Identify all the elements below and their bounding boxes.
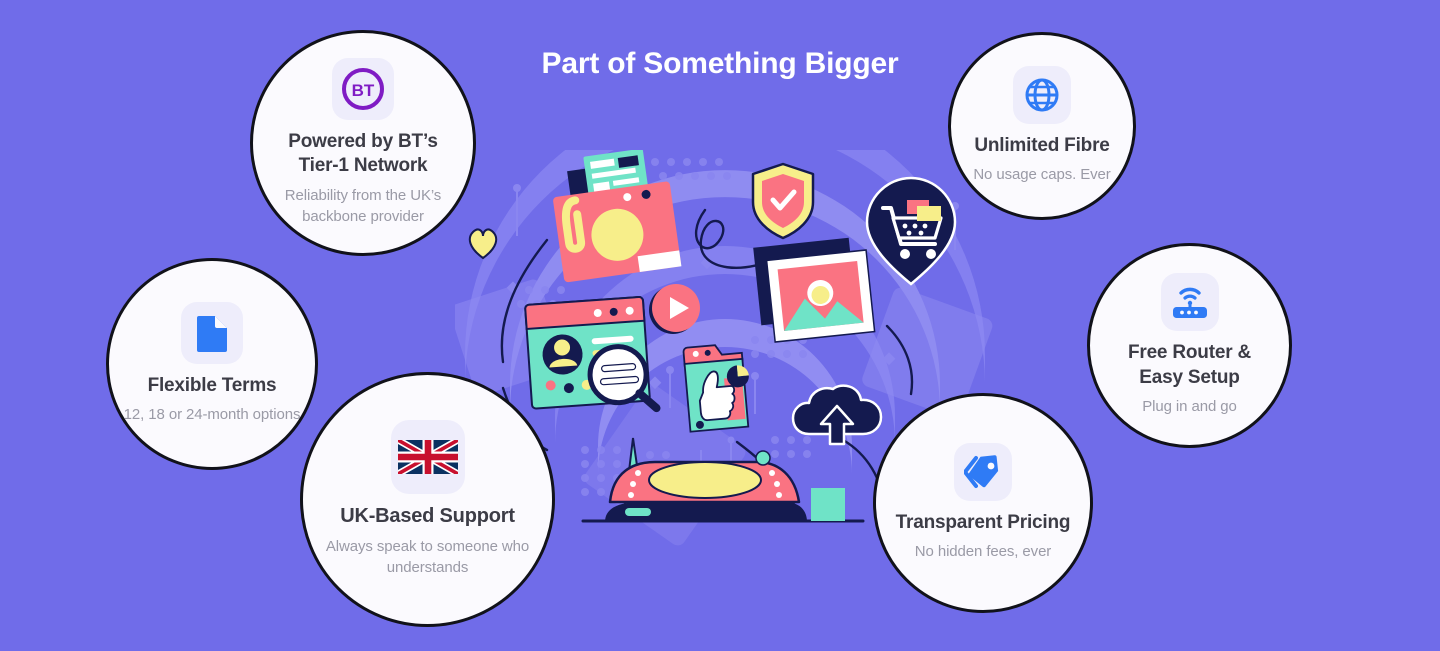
feature-subtitle: Plug in and go [1142, 396, 1237, 418]
feature-subtitle: No hidden fees, ever [915, 541, 1051, 563]
svg-text:BT: BT [352, 81, 375, 100]
feature-title: Free Router & Easy Setup [1104, 341, 1275, 390]
feature-subtitle: 12, 18 or 24-month options [124, 404, 301, 426]
feature-bubble-terms[interactable]: Flexible Terms 12, 18 or 24-month option… [106, 258, 318, 470]
feature-subtitle: No usage caps. Ever [973, 164, 1110, 186]
document-icon [181, 302, 243, 364]
feature-title: Unlimited Fibre [974, 134, 1109, 158]
feature-title: Flexible Terms [148, 374, 277, 398]
feature-subtitle: Reliability from the UK’s backbone provi… [267, 185, 459, 229]
feature-title: Powered by BT’s Tier-1 Network [267, 130, 459, 179]
page-title: Part of Something Bigger [0, 47, 1440, 81]
wifi-router-icon [1161, 273, 1219, 331]
hero-section: Part of Something Bigger [0, 0, 1440, 651]
feature-subtitle: Always speak to someone who understands [317, 536, 538, 580]
feature-bubble-support[interactable]: UK-Based Support Always speak to someone… [300, 372, 555, 627]
uk-flag-icon [391, 420, 465, 494]
feature-bubble-router[interactable]: Free Router & Easy Setup Plug in and go [1087, 243, 1292, 448]
feature-bubble-pricing[interactable]: Transparent Pricing No hidden fees, ever [873, 393, 1093, 613]
feature-title: Transparent Pricing [896, 511, 1071, 535]
price-tags-icon [954, 443, 1012, 501]
feature-title: UK-Based Support [340, 504, 515, 530]
